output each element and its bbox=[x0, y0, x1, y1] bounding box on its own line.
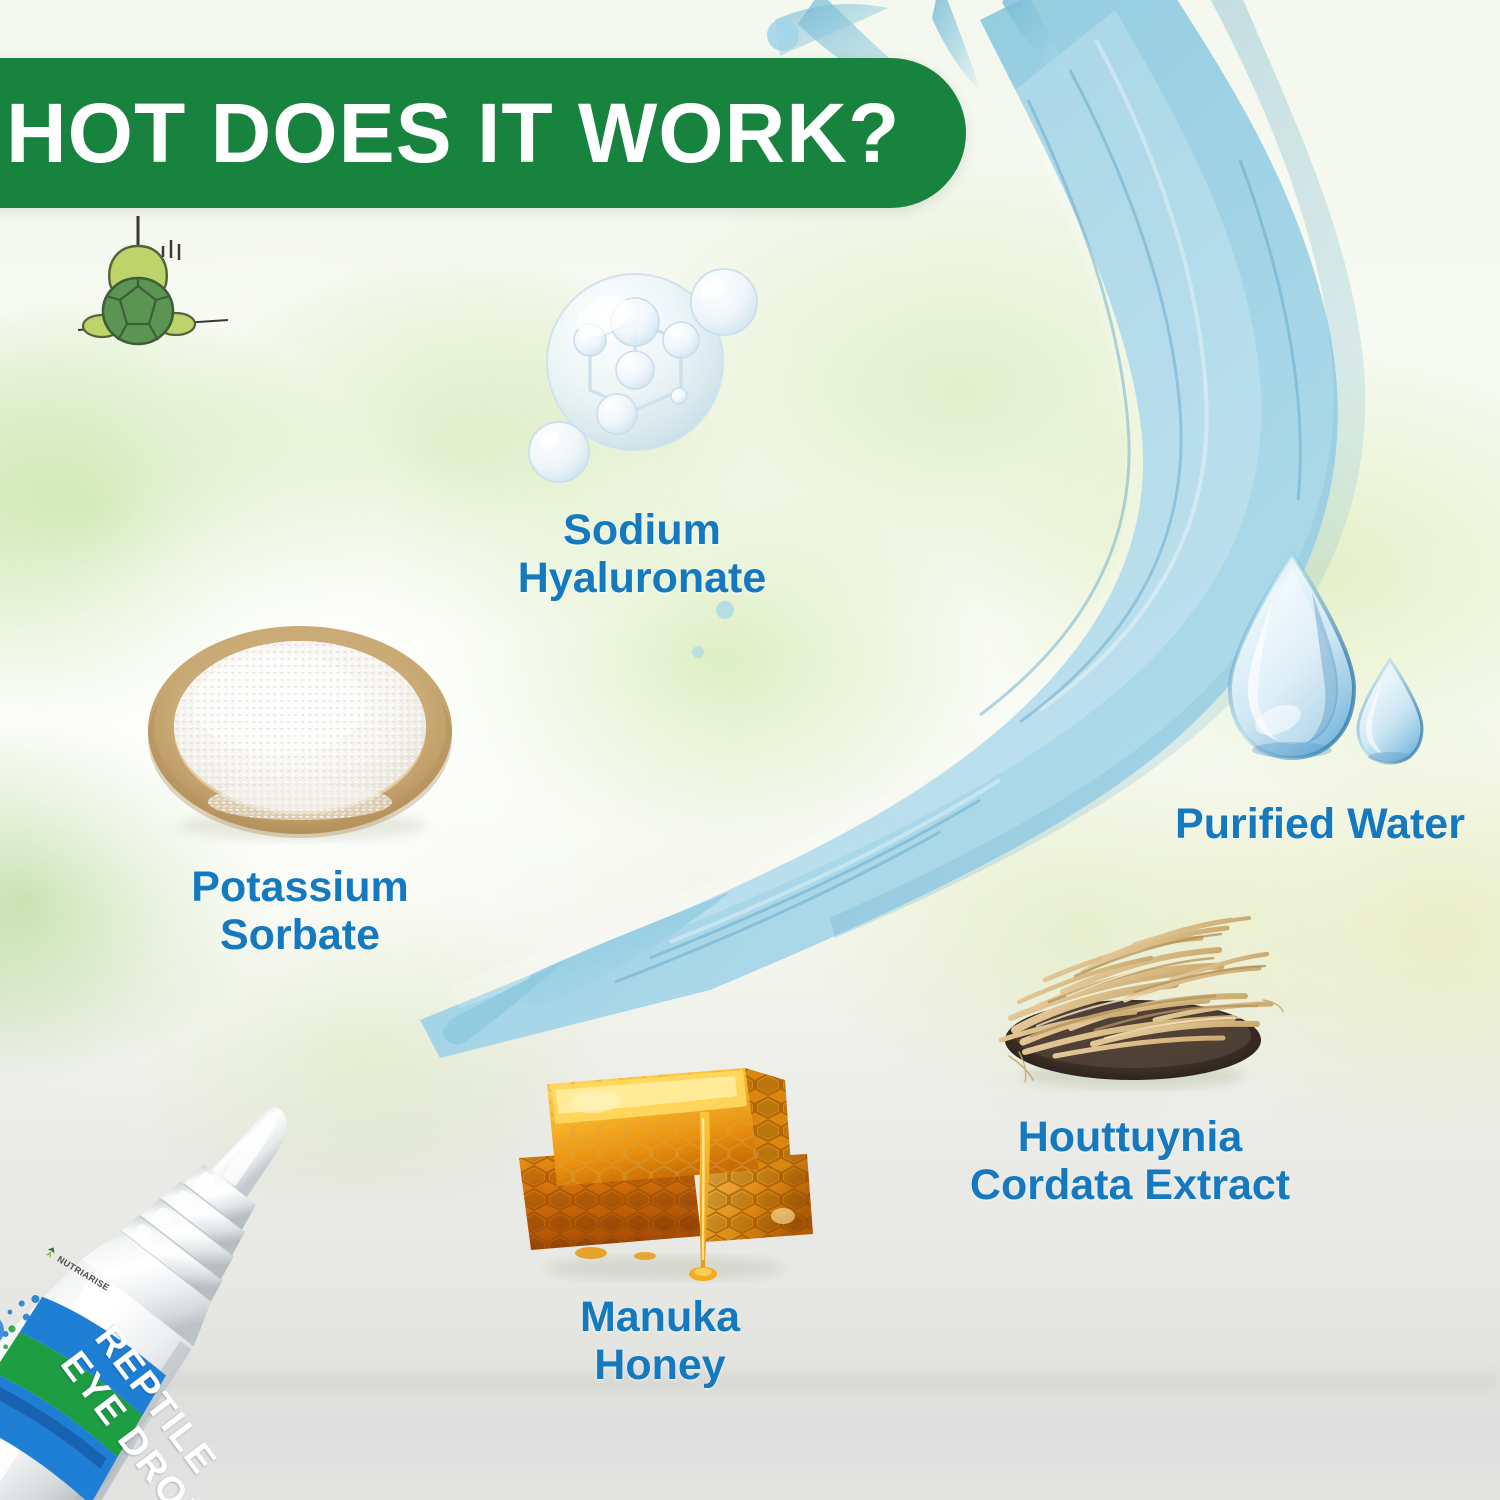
molecule-bubble-image bbox=[517, 244, 767, 494]
ingredient-label: Purified Water bbox=[1140, 800, 1500, 848]
ingredient-label-line1: Houttuynia bbox=[1018, 1113, 1243, 1161]
page-title: HOT DOES IT WORK? bbox=[0, 91, 900, 175]
ingredient-label-line2: Cordata Extract bbox=[970, 1161, 1290, 1209]
ingredient-label: Potassium Sorbate bbox=[100, 863, 500, 959]
ingredient-manuka-honey: Manuka Honey bbox=[470, 1050, 850, 1389]
ingredient-houttuynia-cordata-extract: Houttuynia Cordata Extract bbox=[900, 880, 1360, 1209]
ingredient-label-line2: Hyaluronate bbox=[518, 554, 767, 602]
ingredient-potassium-sorbate: Potassium Sorbate bbox=[100, 612, 500, 959]
ingredient-label: Manuka Honey bbox=[470, 1293, 850, 1389]
honeycomb-image bbox=[495, 1050, 825, 1285]
ingredient-label-line2: Honey bbox=[594, 1341, 725, 1389]
white-granules-wooden-bowl-image bbox=[130, 612, 470, 847]
ingredient-label-line2: Sorbate bbox=[220, 911, 380, 959]
infographic-canvas: HOT DOES IT WORK? bbox=[0, 0, 1500, 1500]
turtle-mascot-icon bbox=[78, 214, 228, 359]
ingredient-label-line1: Purified Water bbox=[1175, 800, 1465, 848]
ingredient-purified-water: Purified Water bbox=[1140, 548, 1500, 848]
ingredient-label-line1: Sodium bbox=[563, 506, 721, 554]
dried-roots-plate-image bbox=[975, 880, 1285, 1095]
ingredient-label-line1: Potassium bbox=[191, 863, 408, 911]
ingredient-label: Sodium Hyaluronate bbox=[452, 506, 832, 602]
ingredient-sodium-hyaluronate: Sodium Hyaluronate bbox=[452, 244, 832, 602]
water-droplets-image bbox=[1200, 548, 1440, 778]
ingredient-label-line1: Manuka bbox=[580, 1293, 740, 1341]
ingredient-label: Houttuynia Cordata Extract bbox=[900, 1113, 1360, 1209]
title-banner: HOT DOES IT WORK? bbox=[0, 58, 966, 208]
product-bottle-image bbox=[0, 1010, 460, 1500]
